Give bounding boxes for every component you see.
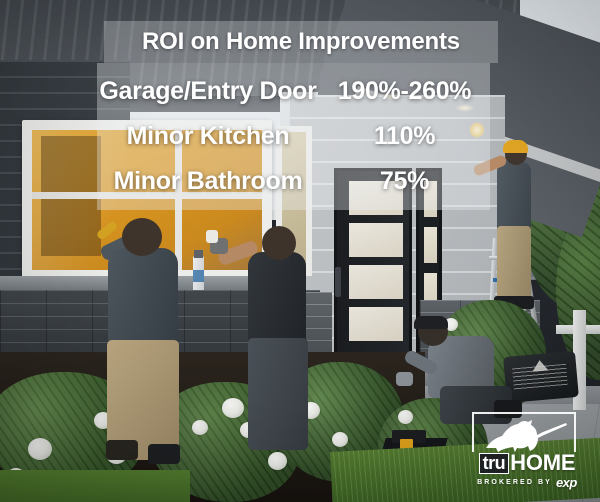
row-label: Minor Kitchen <box>97 122 319 151</box>
logo-subtitle: BROKERED BY exp <box>466 475 588 490</box>
table-row: Minor Bathroom 75% <box>97 160 490 204</box>
poster-image: ROI on Home Improvements Garage/Entry Do… <box>0 0 600 502</box>
worker-mid-cloth <box>206 230 218 243</box>
worker-mid-legs <box>248 338 308 450</box>
row-value: 190%-260% <box>319 77 490 106</box>
rose-bloom <box>28 438 52 460</box>
rose-bloom <box>192 420 208 435</box>
worker-kneeling-glove <box>396 372 413 386</box>
row-label: Garage/Entry Door <box>97 77 319 106</box>
worker-left-head <box>122 218 162 256</box>
rose-bloom <box>268 452 287 470</box>
soil-bag <box>503 351 579 403</box>
truhome-logo: tru HOME BROKERED BY exp <box>466 412 588 488</box>
logo-tru-text: tru <box>479 453 510 474</box>
worker-left-boots <box>106 440 138 460</box>
row-value: 110% <box>319 122 490 151</box>
exp-text: exp <box>556 475 577 490</box>
rose-bloom <box>332 432 348 447</box>
worker-mid-torso <box>248 252 306 344</box>
sidelite-pane <box>424 227 437 263</box>
worker-kneeling-cap <box>414 316 448 329</box>
logo-wordmark: tru HOME <box>466 452 588 474</box>
spray-bottle <box>193 256 204 292</box>
roi-table: Garage/Entry Door 190%-260% Minor Kitche… <box>97 63 490 210</box>
worker-on-ladder-legs <box>497 226 531 300</box>
dog-silhouette-icon <box>480 418 570 454</box>
table-row: Minor Kitchen 110% <box>97 115 490 159</box>
worker-on-ladder-torso <box>497 162 531 232</box>
door-handle <box>335 267 341 297</box>
page-title: ROI on Home Improvements <box>104 21 498 63</box>
row-value: 75% <box>319 167 490 196</box>
brokered-by-text: BROKERED BY <box>477 479 552 486</box>
table-row: Garage/Entry Door 190%-260% <box>97 70 490 114</box>
worker-on-ladder-cap <box>503 140 528 153</box>
door-pane <box>349 223 403 257</box>
door-pane <box>349 265 403 299</box>
worker-mid-head <box>262 226 296 260</box>
rose-bloom <box>222 398 244 418</box>
rose-bloom <box>398 410 413 424</box>
door-pane <box>349 307 403 341</box>
cordless-drill <box>392 430 426 443</box>
logo-home-text: HOME <box>510 452 575 474</box>
worker-left-boots <box>148 444 180 464</box>
worker-left-torso <box>108 248 178 346</box>
soil-bag-text <box>512 364 568 391</box>
lawn-foreground-left <box>0 470 190 502</box>
row-label: Minor Bathroom <box>97 167 319 196</box>
